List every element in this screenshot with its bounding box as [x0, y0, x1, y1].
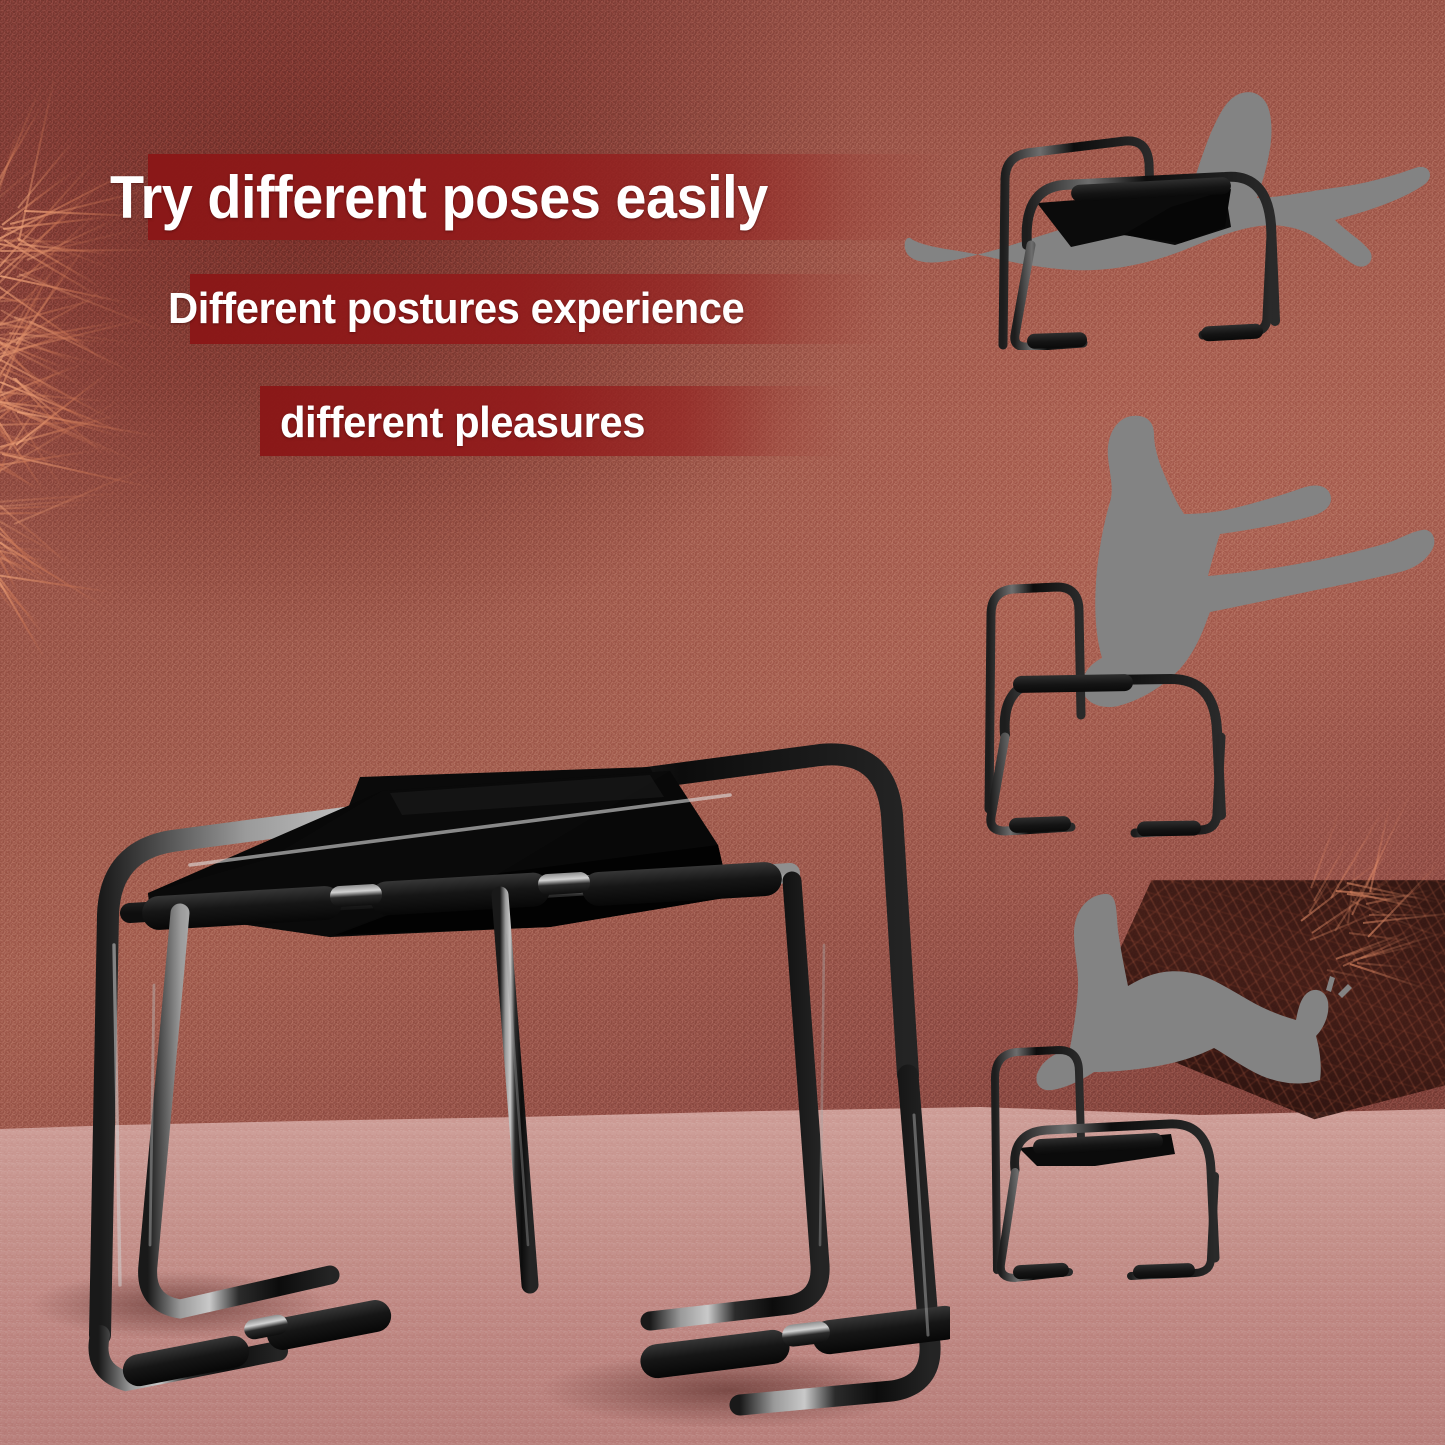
subtitle-line-1: Different postures experience — [168, 282, 744, 336]
product-marketing-image: Try different poses easily Different pos… — [0, 0, 1445, 1445]
spiky-plant-branch-left-lower — [0, 355, 190, 605]
product-chair-top-right — [975, 85, 1295, 350]
product-chair-bottom-right — [975, 1020, 1265, 1300]
page-title: Try different poses easily — [110, 162, 768, 234]
subtitle-line-2: different pleasures — [280, 396, 645, 450]
main-product-chair — [30, 645, 950, 1435]
product-chair-middle-right — [965, 565, 1285, 865]
